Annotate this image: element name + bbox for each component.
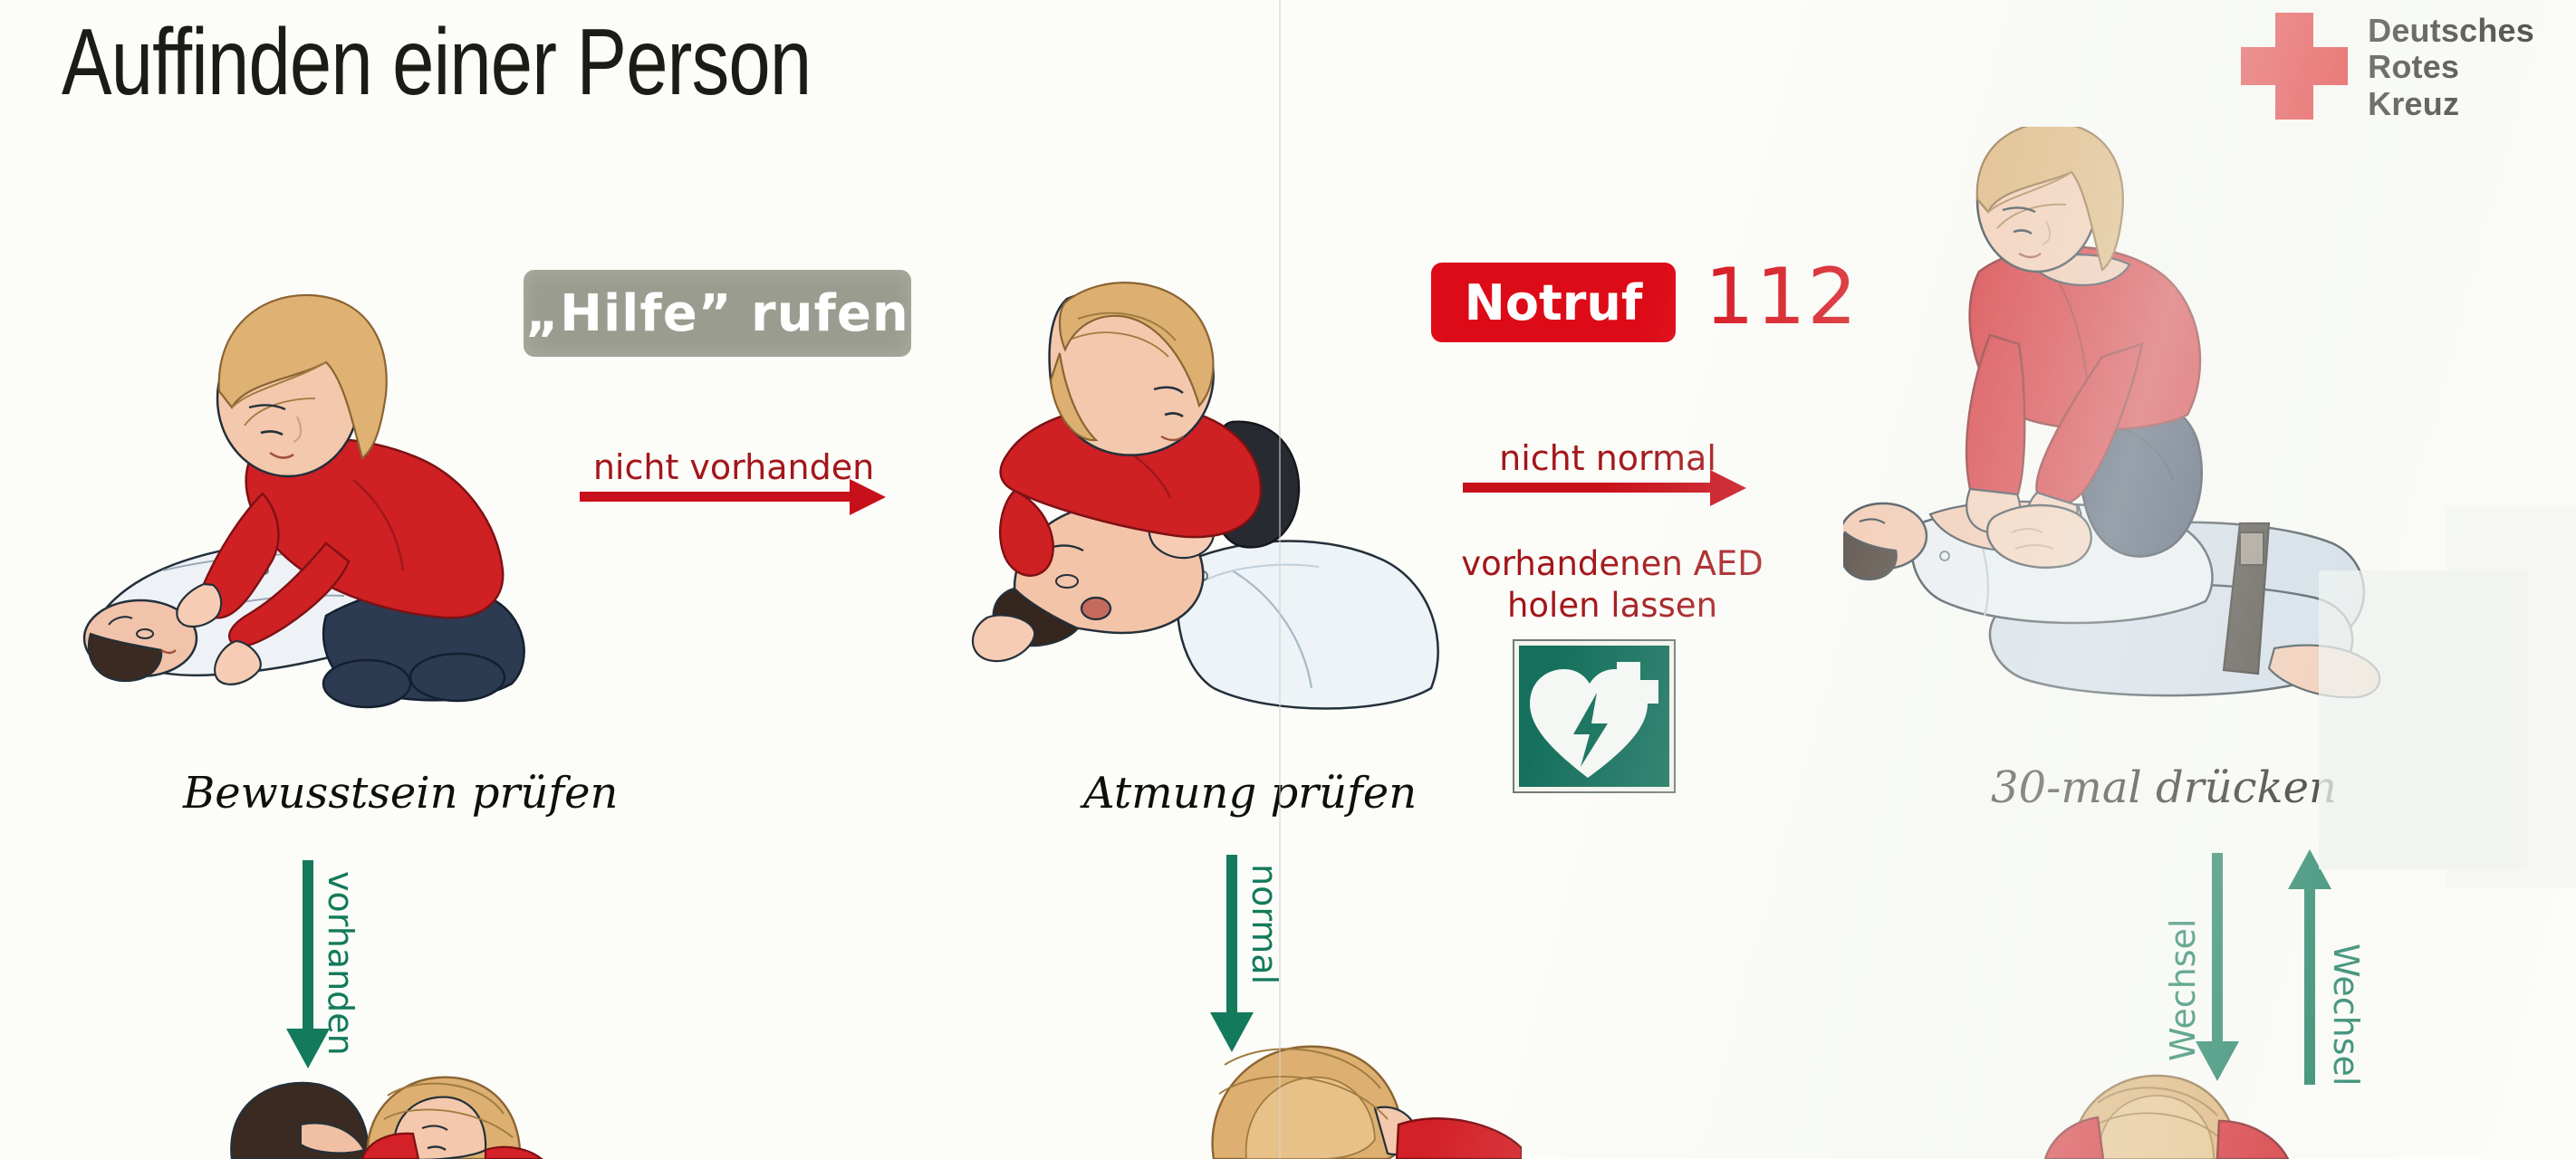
aed-instruction: vorhandenen AED holen lassen: [1440, 543, 1784, 627]
step-caption-1: Bewusstsein prüfen: [183, 768, 618, 819]
arrow-label: nicht vorhanden: [580, 447, 888, 487]
aed-instruction-line-2: holen lassen: [1440, 585, 1784, 627]
step-caption-3: 30-mal drücken: [1991, 762, 2337, 813]
logo-text: Deutsches Rotes Kreuz: [2368, 13, 2534, 122]
hilfe-rufen-badge: „Hilfe” rufen: [524, 270, 911, 357]
arrow-label-wechsel-up: Wechsel: [2326, 943, 2366, 1086]
red-cross-icon: [2241, 13, 2348, 120]
arrow-label-vorhanden: vorhanden: [321, 871, 360, 1056]
arrow-nicht-normal: nicht normal: [1463, 417, 1753, 498]
first-aid-poster: Auffinden einer Person Deutsches Rotes K…: [0, 0, 2576, 1159]
drk-logo: Deutsches Rotes Kreuz: [2241, 13, 2534, 122]
rescue-breath-partial-illustration-right: [1991, 1065, 2299, 1159]
check-consciousness-illustration: [54, 272, 571, 724]
arrow-label: nicht normal: [1463, 438, 1753, 478]
paper-seam: [1279, 0, 1281, 1159]
notruf-badge: Notruf: [1431, 263, 1676, 342]
chest-compressions-illustration: [1843, 127, 2396, 733]
page-title: Auffinden einer Person: [62, 9, 811, 117]
recovery-position-partial-illustration: [208, 1041, 589, 1159]
emergency-number: 112: [1705, 252, 1859, 342]
logo-line-3: Kreuz: [2368, 86, 2534, 122]
arrow-label-wechsel-down: Wechsel: [2163, 919, 2203, 1061]
arrow-nicht-vorhanden: nicht vorhanden: [580, 426, 888, 507]
step-caption-2: Atmung prüfen: [1083, 768, 1417, 819]
check-breathing-illustration: [960, 263, 1504, 724]
rescue-breath-partial-illustration: [1159, 1039, 1522, 1159]
paper-glare: [2446, 507, 2576, 887]
aed-defibrillator-sign: [1514, 641, 1674, 791]
aed-instruction-line-1: vorhandenen AED: [1440, 543, 1784, 585]
logo-line-1: Deutsches: [2368, 13, 2534, 49]
logo-line-2: Rotes: [2368, 49, 2534, 85]
